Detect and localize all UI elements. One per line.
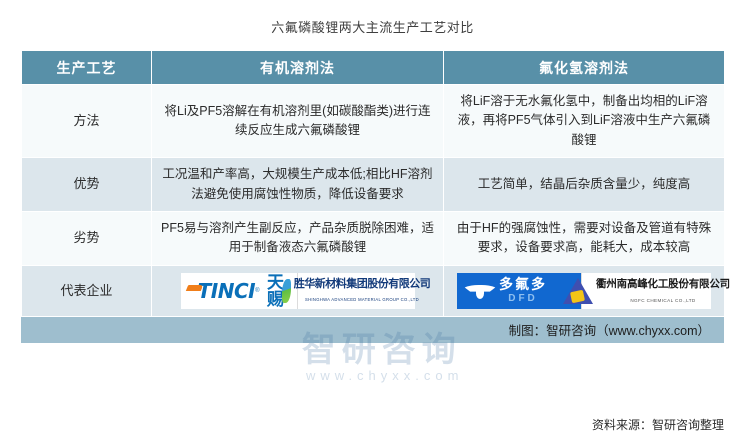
cell-companies-organic: TINCI ® 天赐 胜华新材料集团股份有限公司	[152, 265, 444, 316]
tinci-wordmark: TINCI	[198, 281, 255, 301]
cell-method-organic: 将Li及PF5溶解在有机溶剂里(如碳酸酯类)进行连续反应生成六氟磷酸锂	[152, 85, 444, 158]
row-label-method: 方法	[22, 85, 152, 158]
infographic-page: 六氟磷酸锂两大主流生产工艺对比 生产工艺 有机溶剂法 氟化氢溶剂法 方法 将Li…	[0, 0, 745, 443]
tinci-swoosh-icon	[187, 283, 201, 299]
trademark-icon: ®	[255, 288, 259, 294]
shinghwa-logo: 胜华新材料集团股份有限公司 SHINGHWA ADVANCED MATERIAL…	[297, 273, 415, 309]
credit-bar: 制图：智研咨询（www.chyxx.com）	[21, 317, 724, 343]
table-header-row: 生产工艺 有机溶剂法 氟化氢溶剂法	[22, 51, 725, 85]
cell-advantage-hf: 工艺简单，结晶后杂质含量少，纯度高	[444, 158, 725, 212]
logo-group-organic: TINCI ® 天赐 胜华新材料集团股份有限公司	[161, 273, 434, 309]
nangaofeng-logo: 衢州南高峰化工股份有限公司 NGFC CHEMICAL CO.,LTD	[581, 273, 711, 309]
cell-disadvantage-hf: 由于HF的强腐蚀性，需要对设备及管道有特殊要求，设备要求高，能耗大，成本较高	[444, 211, 725, 265]
page-title: 六氟磷酸锂两大主流生产工艺对比	[0, 0, 745, 46]
table-row: 劣势 PF5易与溶剂产生副反应，产品杂质脱除困难，适用于制备液态六氟磷酸锂 由于…	[22, 211, 725, 265]
shinghwa-english-name: SHINGHWA ADVANCED MATERIAL GROUP CO.,LTD	[305, 297, 419, 302]
comparison-table: 生产工艺 有机溶剂法 氟化氢溶剂法 方法 将Li及PF5溶解在有机溶剂里(如碳酸…	[21, 50, 725, 317]
column-header-hf-solvent: 氟化氢溶剂法	[444, 51, 725, 85]
cell-advantage-organic: 工况温和产率高，大规模生产成本低;相比HF溶剂法避免使用腐蚀性物质，降低设备要求	[152, 158, 444, 212]
table-row: 优势 工况温和产率高，大规模生产成本低;相比HF溶剂法避免使用腐蚀性物质，降低设…	[22, 158, 725, 212]
cell-method-hf: 将LiF溶于无水氟化氢中，制备出均相的LiF溶液，再将PF5气体引入到LiF溶液…	[444, 85, 725, 158]
watermark-sub-text: www.chyxx.com	[306, 369, 463, 382]
logo-group-hf: 多氟多 DFD 衢州南高峰化工股份有限公司	[453, 273, 715, 309]
source-note: 资料来源：智研咨询整理	[592, 416, 724, 433]
column-header-organic-solvent: 有机溶剂法	[152, 51, 444, 85]
cell-disadvantage-organic: PF5易与溶剂产生副反应，产品杂质脱除困难，适用于制备液态六氟磷酸锂	[152, 211, 444, 265]
tinci-logo: TINCI ® 天赐	[181, 273, 297, 309]
row-label-disadvantage: 劣势	[22, 211, 152, 265]
mountain-icon	[563, 278, 593, 304]
table-row: 方法 将Li及PF5溶解在有机溶剂里(如碳酸酯类)进行连续反应生成六氟磷酸锂 将…	[22, 85, 725, 158]
table-row: 代表企业 TINCI ® 天赐	[22, 265, 725, 316]
dfd-chinese-name: 多氟多	[499, 276, 547, 292]
bird-icon	[461, 279, 499, 303]
shinghwa-chinese-name: 胜华新材料集团股份有限公司	[294, 278, 431, 290]
dfd-wordmark: DFD	[508, 293, 538, 304]
leaf-icon	[282, 279, 291, 303]
credit-text: 制图：智研咨询（www.chyxx.com）	[509, 320, 710, 339]
column-header-process: 生产工艺	[22, 51, 152, 85]
nangaofeng-chinese-name: 衢州南高峰化工股份有限公司	[596, 278, 730, 290]
row-label-companies: 代表企业	[22, 265, 152, 316]
comparison-table-container: 生产工艺 有机溶剂法 氟化氢溶剂法 方法 将Li及PF5溶解在有机溶剂里(如碳酸…	[21, 50, 724, 343]
cell-companies-hf: 多氟多 DFD 衢州南高峰化工股份有限公司	[444, 265, 725, 316]
row-label-advantage: 优势	[22, 158, 152, 212]
nangaofeng-english-name: NGFC CHEMICAL CO.,LTD	[630, 298, 695, 303]
